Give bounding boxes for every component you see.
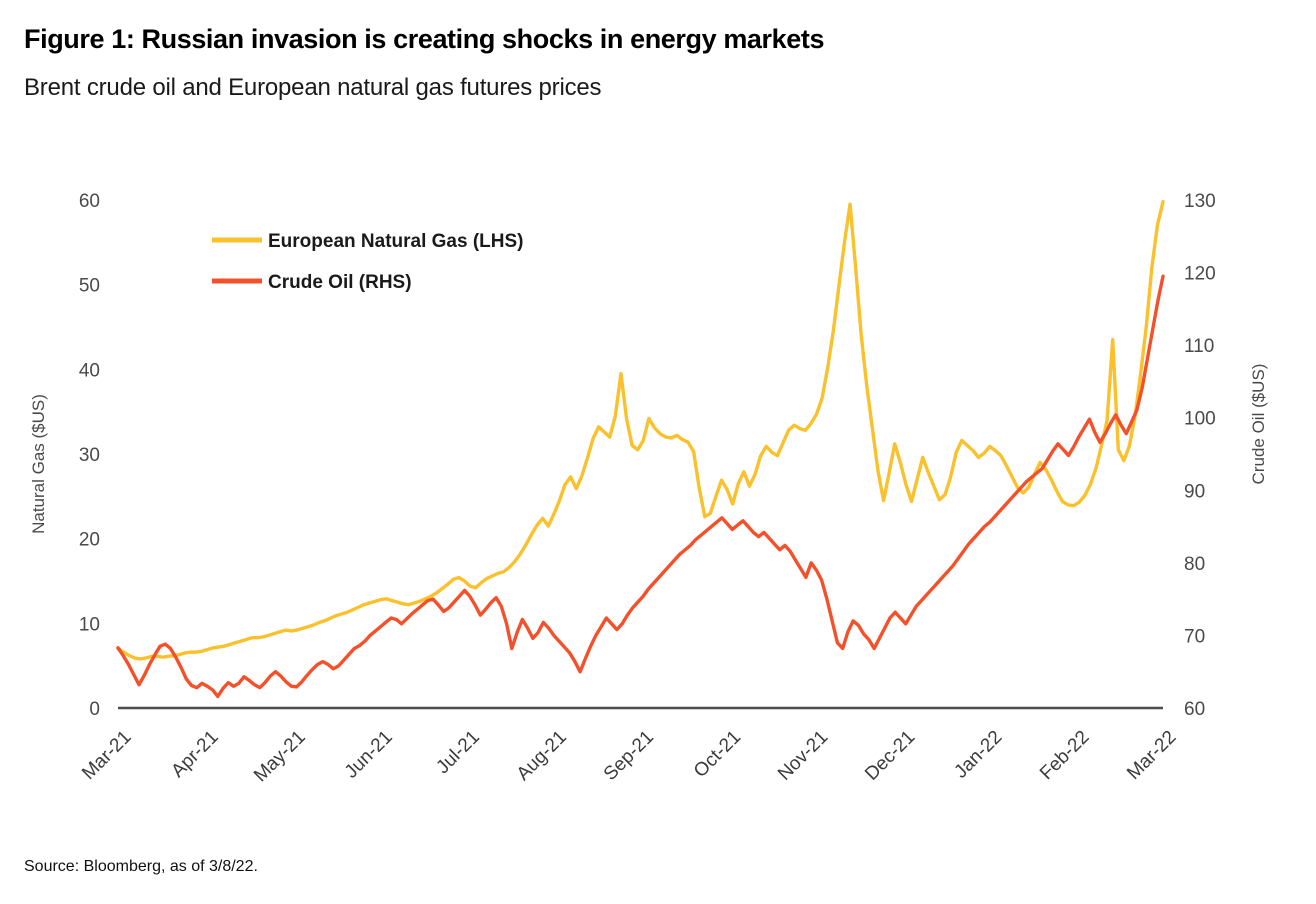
y-axis-right-tick-3: 90 xyxy=(1184,481,1205,502)
chart-plot-area: 0102030405060 60708090100110120130 Mar-2… xyxy=(0,140,1316,840)
x-axis-tick-3: Jun-21 xyxy=(341,727,397,783)
x-axis-tick-0: Mar-21 xyxy=(78,727,135,784)
y-axis-right-tick-7: 130 xyxy=(1184,191,1216,212)
x-axis-tick-1: Apr-21 xyxy=(167,727,222,782)
y-axis-left-tick-4: 40 xyxy=(79,360,100,381)
y-axis-left-tick-1: 10 xyxy=(79,614,100,635)
y-axis-right-tick-1: 70 xyxy=(1184,626,1205,647)
x-axis: Mar-21Apr-21May-21Jun-21Jul-21Aug-21Sep-… xyxy=(78,708,1180,786)
axis-titles: Natural Gas ($US)Crude Oil ($US) xyxy=(29,364,1268,534)
x-axis-tick-10: Jan-22 xyxy=(950,727,1006,783)
x-axis-tick-7: Oct-21 xyxy=(690,727,745,782)
x-axis-tick-5: Aug-21 xyxy=(513,727,571,785)
y-axis-left-tick-3: 30 xyxy=(79,445,100,466)
figure-subtitle: Brent crude oil and European natural gas… xyxy=(24,74,601,102)
y-axis-right-tick-4: 100 xyxy=(1184,409,1216,430)
x-axis-tick-6: Sep-21 xyxy=(600,727,658,785)
y-axis-left: 0102030405060 xyxy=(79,191,100,720)
y-axis-left-title: Natural Gas ($US) xyxy=(29,394,48,534)
y-axis-right-title: Crude Oil ($US) xyxy=(1249,364,1268,485)
y-axis-left-tick-5: 50 xyxy=(79,276,100,297)
x-axis-tick-4: Jul-21 xyxy=(432,727,483,778)
y-axis-right: 60708090100110120130 xyxy=(1184,191,1216,720)
legend-label-0: European Natural Gas (LHS) xyxy=(268,231,524,252)
x-axis-tick-8: Nov-21 xyxy=(774,727,832,785)
y-axis-right-tick-0: 60 xyxy=(1184,699,1205,720)
y-axis-right-tick-2: 80 xyxy=(1184,554,1205,575)
chart-legend: European Natural Gas (LHS)Crude Oil (RHS… xyxy=(212,231,524,293)
series-line-natural-gas xyxy=(118,202,1163,659)
figure-title: Figure 1: Russian invasion is creating s… xyxy=(24,24,824,55)
x-axis-tick-11: Feb-22 xyxy=(1036,727,1093,784)
legend-label-1: Crude Oil (RHS) xyxy=(268,272,412,293)
y-axis-right-tick-6: 120 xyxy=(1184,264,1216,285)
x-axis-tick-2: May-21 xyxy=(250,727,310,787)
y-axis-left-tick-0: 0 xyxy=(89,699,100,720)
x-axis-tick-12: Mar-22 xyxy=(1123,727,1180,784)
y-axis-right-tick-5: 110 xyxy=(1184,336,1214,357)
y-axis-left-tick-2: 20 xyxy=(79,530,100,551)
figure-container: Figure 1: Russian invasion is creating s… xyxy=(0,0,1316,904)
x-axis-tick-9: Dec-21 xyxy=(861,727,919,785)
y-axis-left-tick-6: 60 xyxy=(79,191,100,212)
source-note: Source: Bloomberg, as of 3/8/22. xyxy=(24,858,258,876)
